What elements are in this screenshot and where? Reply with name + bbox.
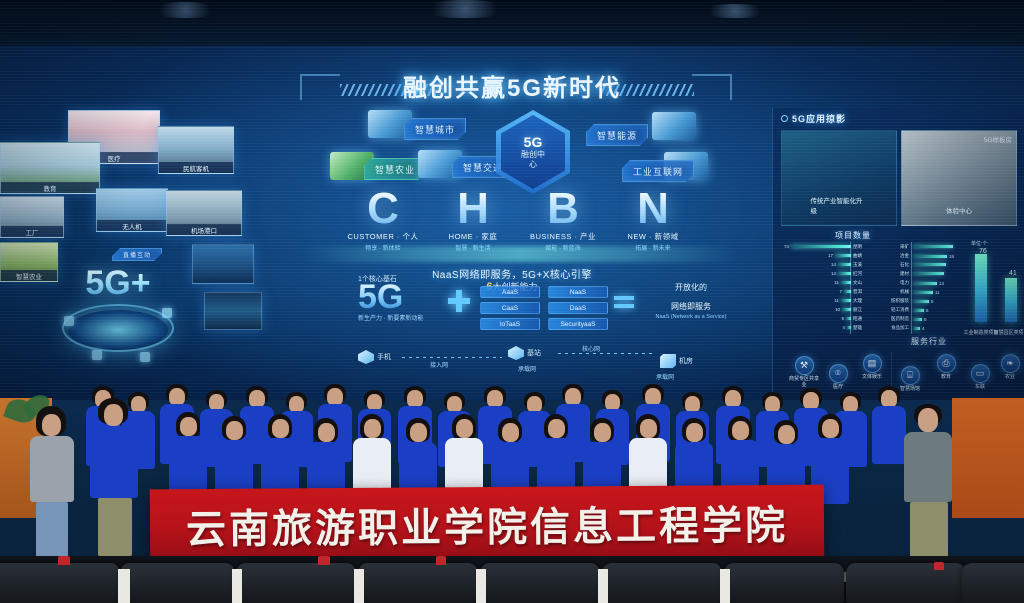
cat: 机械 bbox=[900, 289, 909, 295]
seat-gap bbox=[720, 569, 730, 603]
card-label: 5G样板房 bbox=[984, 134, 1012, 144]
net-link-label: 承载网 bbox=[518, 364, 536, 373]
service-label: 医疗 bbox=[823, 385, 853, 391]
bar bbox=[913, 282, 937, 285]
vbar-annotation: 单位:个 bbox=[971, 240, 987, 247]
ceiling-light bbox=[150, 2, 220, 18]
chart-title-project-count: 项目数量 bbox=[773, 230, 933, 241]
hologram-mini-icon bbox=[92, 350, 102, 360]
bar bbox=[838, 263, 851, 266]
hologram-base bbox=[68, 310, 168, 350]
bar-value: 9 bbox=[931, 299, 934, 304]
cat: 轻工消费 bbox=[891, 307, 909, 313]
seat bbox=[602, 563, 722, 603]
bar-value: 10 bbox=[835, 307, 840, 312]
phone-icon bbox=[358, 350, 374, 364]
bullet-icon bbox=[781, 115, 788, 122]
bar bbox=[913, 318, 922, 321]
service-label: 商贸专区共享业 bbox=[789, 377, 819, 389]
leaf-icon: ❧ bbox=[1001, 354, 1020, 373]
bar-value: 5 bbox=[841, 316, 844, 321]
bar bbox=[913, 291, 933, 294]
bar bbox=[791, 245, 851, 248]
gallery-tile-airliner[interactable]: 民航客机 bbox=[158, 126, 234, 174]
vbar-chart-region: 单位:个 76 工业制造类项目 41 智慧园区类项目 bbox=[959, 234, 1023, 336]
gallery-tile-extra[interactable] bbox=[192, 244, 254, 284]
bar-value: 11 bbox=[834, 280, 839, 285]
seat-marker bbox=[318, 556, 330, 565]
screenshot-root: 融创共赢5G新时代 智慧城市 智慧农业 智慧交通 智慧能源 工业互联网 5G 融… bbox=[0, 0, 1024, 603]
chbn-glow-band bbox=[300, 246, 740, 262]
cat: 采矿 bbox=[900, 244, 909, 250]
seat-gap bbox=[354, 569, 364, 603]
card-caption: 体验中心 bbox=[946, 205, 972, 215]
media-icon: ▤ bbox=[863, 354, 882, 373]
hbar-categories-2: 采矿 冶金 石化 建材 电力 机械 纺织服装 轻工消费 医药制造 食品加工 bbox=[879, 242, 909, 334]
vbar-2 bbox=[1005, 278, 1017, 322]
dashboard-header: 5G应用掠影 bbox=[781, 112, 846, 125]
seat-gap bbox=[598, 569, 608, 603]
seat bbox=[120, 563, 235, 603]
bar bbox=[841, 281, 851, 284]
bar-value: 11 bbox=[834, 298, 839, 303]
service-section-title: 服务行业 bbox=[869, 336, 989, 347]
seat bbox=[962, 563, 1024, 603]
dashboard-panel: 5G应用掠影 传统产业智能化升级 5G样板房 体验中心 项目数量 74 17 1… bbox=[772, 108, 1024, 408]
dashboard-title: 5G应用掠影 bbox=[792, 112, 846, 125]
capability-chip[interactable]: AaaS bbox=[480, 286, 540, 298]
bar-value: 13 bbox=[939, 281, 944, 286]
capability-chip[interactable]: DaaS bbox=[548, 302, 608, 314]
bar-value: 5 bbox=[924, 317, 927, 322]
chbn-en-label: BUSINESS · 产业 bbox=[530, 231, 596, 242]
cat: 食品加工 bbox=[891, 325, 909, 331]
cat: 丽江 bbox=[853, 307, 862, 313]
car-icon: ▭ bbox=[971, 364, 990, 383]
gallery-tile-factory[interactable]: 工厂 bbox=[0, 196, 64, 238]
tile-caption: 工厂 bbox=[1, 226, 63, 237]
tile-caption: 教育 bbox=[1, 182, 99, 193]
net-link-line bbox=[558, 353, 654, 354]
gallery-tile-airport-port[interactable]: 机场港口 bbox=[166, 190, 242, 236]
cat: 玉溪 bbox=[853, 262, 862, 268]
service-tile-venue[interactable]: ⌸ 智慧场馆 bbox=[895, 366, 925, 393]
hologram-mini-icon bbox=[64, 316, 74, 326]
net-node-basestation: 基站 bbox=[508, 346, 541, 360]
node-thumbnail-energy bbox=[652, 112, 696, 140]
cat: 昭通 bbox=[853, 316, 862, 322]
chbn-letter: C bbox=[367, 188, 399, 230]
bar-value: 14 bbox=[831, 262, 836, 267]
chbn-letter: N bbox=[637, 188, 669, 230]
bar-value: 4 bbox=[922, 326, 925, 331]
cat: 昆明 bbox=[853, 244, 862, 250]
seat bbox=[0, 563, 120, 603]
service-label: 农业 bbox=[995, 375, 1024, 381]
bar-value: 7 bbox=[839, 289, 842, 294]
dashboard-card-showroom[interactable]: 5G样板房 体验中心 bbox=[901, 130, 1017, 226]
tile-caption: 民航客机 bbox=[159, 162, 233, 173]
bar bbox=[841, 299, 851, 302]
seat-gap bbox=[118, 569, 130, 603]
bar-value: 74 bbox=[784, 244, 789, 249]
wall-main-title: 融创共赢5G新时代 bbox=[0, 68, 1024, 103]
capability-chip[interactable]: NaaS bbox=[548, 286, 608, 298]
cat: 冶金 bbox=[900, 253, 909, 259]
gallery-tile-city[interactable] bbox=[204, 292, 262, 330]
gallery-tile-education[interactable]: 教育 bbox=[0, 142, 100, 194]
hbar-categories-1: 昆明 曲靖 玉溪 红河 文山 普洱 大理 丽江 昭通 楚雄 bbox=[853, 242, 879, 334]
cat: 建材 bbox=[900, 271, 909, 277]
seat-marker bbox=[58, 556, 70, 565]
capability-chip[interactable]: SecurityaaS bbox=[548, 318, 608, 330]
center-hub-hexagon[interactable]: 5G 融创中 心 bbox=[496, 110, 570, 194]
tile-caption: 机场港口 bbox=[167, 224, 241, 235]
service-tile-commerce[interactable]: ⚒ 商贸专区共享业 bbox=[789, 356, 819, 389]
naas-cornerstone-5g: 5G bbox=[358, 282, 423, 313]
chbn-en-label: HOME · 家庭 bbox=[449, 231, 498, 242]
service-label: 文体娱乐 bbox=[857, 375, 887, 381]
seat-gap bbox=[232, 569, 242, 603]
bar bbox=[913, 255, 947, 258]
hologram-5g-text: 5G+ bbox=[58, 266, 178, 300]
equals-icon bbox=[614, 296, 634, 308]
hub-line3: 心 bbox=[529, 161, 537, 170]
net-node-label: 基站 bbox=[527, 348, 541, 358]
node-industrial-internet[interactable]: 工业互联网 bbox=[622, 160, 694, 182]
bar-value: 4 bbox=[842, 325, 845, 330]
cat: 医药制造 bbox=[891, 316, 909, 322]
service-tile-vehicle[interactable]: ▭ 车联 bbox=[965, 364, 995, 391]
service-label: 教育 bbox=[931, 375, 961, 381]
right-wall-panel bbox=[952, 398, 1024, 518]
bar-value: 19 bbox=[949, 254, 954, 259]
chbn-letter: H bbox=[457, 188, 489, 230]
vbar-label-2: 智慧园区类项目 bbox=[993, 329, 1024, 336]
seat bbox=[236, 563, 356, 603]
hologram-5g-plus: 5G+ bbox=[58, 258, 178, 363]
server-room-icon bbox=[660, 354, 676, 368]
chbn-letter: B bbox=[547, 188, 579, 230]
bar bbox=[913, 272, 944, 275]
hub-line1: 5G bbox=[524, 134, 543, 150]
service-label: 车联 bbox=[965, 385, 995, 391]
net-link-label: 核心网 bbox=[582, 344, 600, 353]
seat bbox=[846, 563, 966, 603]
seat-marker bbox=[934, 562, 944, 570]
card-caption: 传统产业智能化升级 bbox=[811, 195, 868, 215]
naas-result-a: 开放化的 bbox=[646, 282, 736, 293]
bar-value: 11 bbox=[935, 290, 940, 295]
seat bbox=[724, 563, 844, 603]
naas-result: 开放化的 网络即服务 NaaS (Network as a Service) bbox=[646, 282, 736, 320]
naas-cornerstone: 1个核心基石 5G 新生产力 · 新要素新动能 bbox=[358, 274, 423, 322]
base-station-icon bbox=[508, 346, 524, 360]
node-smart-city[interactable]: 智慧城市 bbox=[404, 118, 466, 140]
ceiling-light bbox=[700, 4, 770, 18]
chart-axis bbox=[911, 242, 912, 334]
node-smart-agriculture[interactable]: 智慧农业 bbox=[364, 158, 426, 180]
cat: 楚雄 bbox=[853, 325, 862, 331]
bar bbox=[913, 309, 924, 312]
bar bbox=[913, 300, 929, 303]
hbar-chart-region: 74 17 14 14 11 7 11 10 5 4 bbox=[779, 242, 851, 334]
building-icon: ⌸ bbox=[901, 366, 920, 385]
net-link-line bbox=[402, 357, 502, 358]
chbn-en-label: CUSTOMER · 个人 bbox=[348, 231, 419, 242]
event-banner: 云南旅游职业学院信息工程学院 bbox=[150, 485, 825, 564]
cat: 曲靖 bbox=[853, 253, 862, 259]
seat-marker bbox=[436, 556, 446, 565]
cat: 纺织服装 bbox=[891, 298, 909, 304]
hbar-chart-region-2: 19 13 11 9 6 5 4 bbox=[911, 242, 955, 334]
gallery-tile-agriculture[interactable]: 智慧农业 bbox=[0, 242, 58, 282]
naas-result-c: NaaS (Network as a Service) bbox=[646, 314, 736, 320]
bar bbox=[913, 263, 946, 266]
bar bbox=[913, 245, 953, 248]
bar bbox=[835, 254, 851, 257]
naas-capability-grid: AaaS NaaS CaaS DaaS IoTaaS SecurityaaS bbox=[480, 286, 608, 330]
camera-icon: ⌾ bbox=[829, 364, 848, 383]
hub-line2: 融创中 bbox=[521, 151, 545, 160]
hologram-mini-icon bbox=[140, 352, 150, 362]
net-link-label: 接入网 bbox=[430, 360, 448, 369]
tile-caption: 无人机 bbox=[97, 220, 167, 231]
naas-result-b: 网络即服务 bbox=[646, 301, 736, 312]
vbar-1 bbox=[975, 254, 987, 322]
bar bbox=[842, 308, 851, 311]
net-node-phone: 手机 bbox=[358, 350, 391, 364]
bar bbox=[844, 290, 851, 293]
bar bbox=[913, 327, 920, 330]
seat-gap bbox=[476, 569, 486, 603]
hologram-caption-chip: 直播互动 bbox=[112, 248, 162, 261]
book-icon: ⎙ bbox=[937, 354, 956, 373]
cat: 石化 bbox=[900, 262, 909, 268]
cat: 文山 bbox=[853, 280, 862, 286]
vbar-value-2: 41 bbox=[1009, 270, 1017, 277]
bar-value: 6 bbox=[926, 308, 929, 313]
banner-text: 云南旅游职业学院信息工程学院 bbox=[186, 493, 788, 555]
plus-icon bbox=[448, 290, 470, 312]
cat: 大理 bbox=[853, 298, 862, 304]
cat: 红河 bbox=[853, 271, 862, 277]
bar bbox=[847, 326, 851, 329]
net-node-room: 机房 bbox=[660, 354, 693, 368]
tool-icon: ⚒ bbox=[795, 356, 814, 375]
chbn-en-label: NEW · 新领域 bbox=[627, 231, 678, 242]
tile-caption: 智慧农业 bbox=[1, 270, 57, 281]
led-video-wall: 融创共赢5G新时代 智慧城市 智慧农业 智慧交通 智慧能源 工业互联网 5G 融… bbox=[0, 0, 1024, 420]
hologram-mini-icon bbox=[162, 308, 172, 318]
bar bbox=[838, 272, 851, 275]
net-node-label: 机房 bbox=[679, 356, 693, 366]
naas-cornerstone-tiny: 新生产力 · 新要素新动能 bbox=[358, 313, 423, 322]
service-tile-entertainment[interactable]: ▤ 文体娱乐 bbox=[857, 354, 887, 381]
net-node-label: 手机 bbox=[377, 352, 391, 362]
service-tile-agriculture[interactable]: ❧ 农业 bbox=[995, 354, 1024, 381]
gallery-tile-drone[interactable]: 无人机 bbox=[96, 188, 168, 232]
service-tile-education[interactable]: ⎙ 教育 bbox=[931, 354, 961, 381]
net-link-label: 承载网 bbox=[656, 372, 674, 381]
seat bbox=[480, 563, 600, 603]
auditorium-seating bbox=[0, 556, 1024, 603]
seat bbox=[358, 563, 478, 603]
bar-value: 17 bbox=[828, 253, 833, 258]
capability-chip[interactable]: CaaS bbox=[480, 302, 540, 314]
cat: 电力 bbox=[900, 280, 909, 286]
bar-value: 14 bbox=[831, 271, 836, 276]
ceiling-light bbox=[420, 0, 510, 18]
service-tile-medical[interactable]: ⌾ 医疗 bbox=[823, 364, 853, 391]
capability-chip[interactable]: IoTaaS bbox=[480, 318, 540, 330]
bar bbox=[846, 317, 851, 320]
node-smart-energy[interactable]: 智慧能源 bbox=[586, 124, 648, 146]
dashboard-card-industry[interactable]: 传统产业智能化升级 bbox=[781, 130, 897, 226]
cat: 普洱 bbox=[853, 289, 862, 295]
